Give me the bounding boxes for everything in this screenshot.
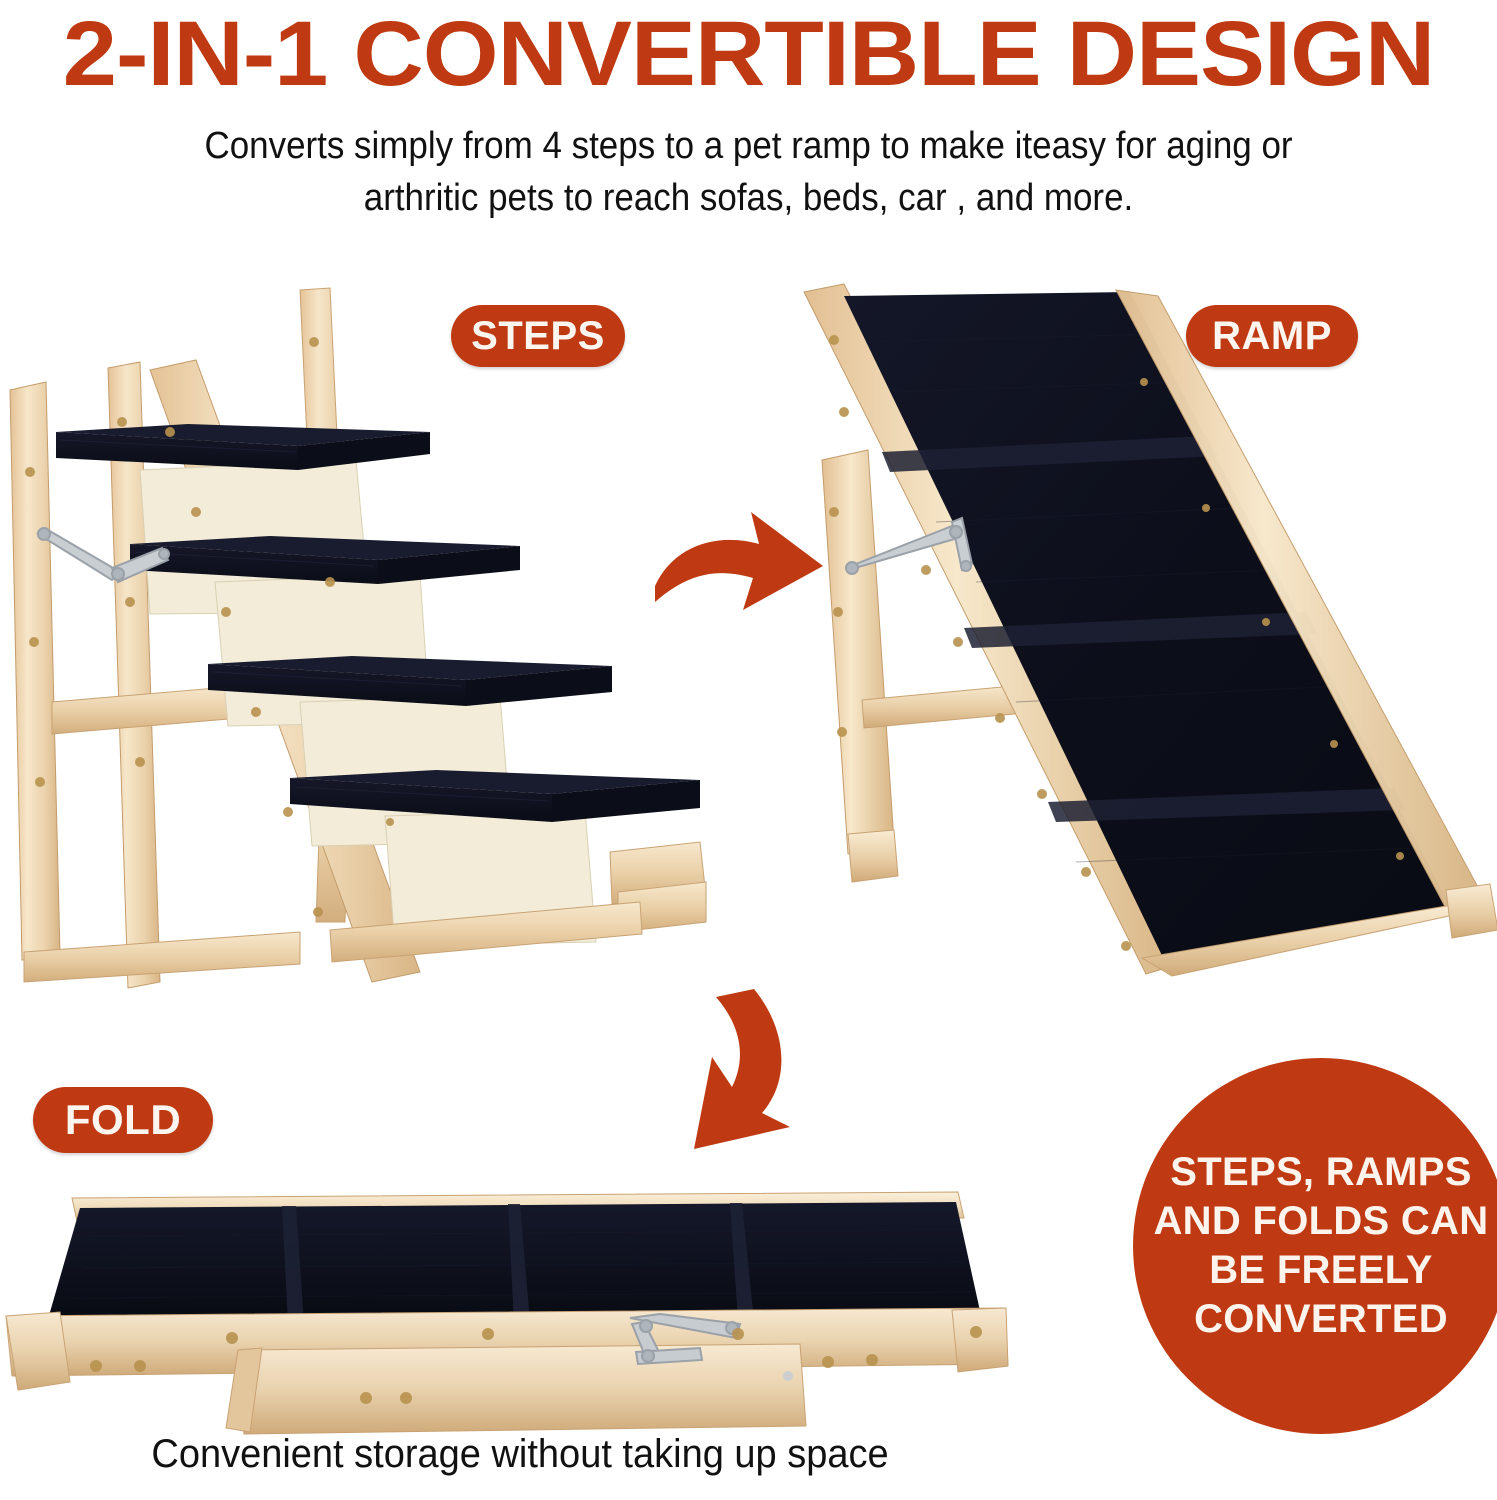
page-subtitle: Converts simply from 4 steps to a pet ra… [152, 120, 1345, 224]
circle-line-3: BE FREELY [1209, 1246, 1433, 1295]
circle-line-2: AND FOLDS CAN [1154, 1197, 1489, 1246]
badge-ramp: RAMP [1186, 305, 1358, 367]
bottom-caption: Convenient storage without taking up spa… [26, 1432, 1014, 1477]
product-image-ramp [786, 282, 1497, 994]
circle-line-4: CONVERTED [1194, 1295, 1448, 1344]
product-image-folded [0, 1176, 1010, 1444]
curved-arrow-right-icon [655, 498, 825, 623]
badge-steps: STEPS [451, 305, 625, 367]
badge-fold: FOLD [33, 1087, 213, 1153]
product-image-steps [0, 282, 720, 994]
badge-circle-converted: STEPS, RAMPS AND FOLDS CAN BE FREELY CON… [1133, 1058, 1497, 1434]
curved-arrow-down-icon [638, 985, 828, 1155]
circle-line-1: STEPS, RAMPS [1170, 1148, 1471, 1197]
page-title: 2-IN-1 CONVERTIBLE DESIGN [0, 2, 1497, 106]
